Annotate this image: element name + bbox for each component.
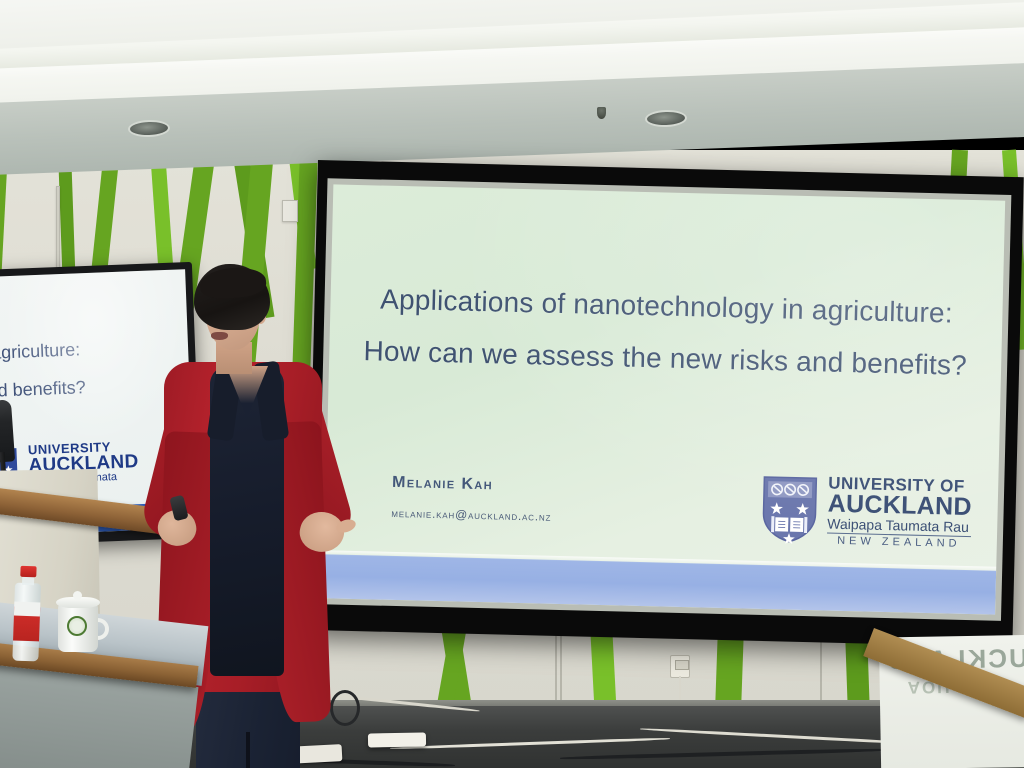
uoa-wordmark: UNIVERSITY OF AUCKLAND Waipapa Taumata R… bbox=[827, 475, 973, 550]
presenter-trousers-seam bbox=[246, 732, 250, 768]
water-bottle bbox=[12, 565, 41, 662]
university-logo: UNIVERSITY OF AUCKLAND Waipapa Taumata R… bbox=[761, 473, 973, 550]
slide-email: melanie.kah@auckland.ac.nz bbox=[391, 506, 551, 524]
cup-lid-knob bbox=[73, 591, 82, 600]
presentation-photo-scene: Applications of nanotechnology in agricu… bbox=[0, 0, 1024, 768]
screen-glare bbox=[323, 184, 1005, 614]
uoa-logo-line-3: Waipapa Taumata Rau bbox=[827, 517, 971, 535]
slide-surface: Applications of nanotechnology in agricu… bbox=[323, 184, 1005, 614]
tea-cup bbox=[55, 588, 101, 652]
uoa-shield-icon bbox=[761, 475, 819, 544]
cup-logo-icon bbox=[67, 616, 87, 636]
sprinkler-icon bbox=[597, 107, 606, 119]
wall-mounted-fixture bbox=[282, 200, 298, 222]
slide-author: Melanie Kah bbox=[392, 474, 493, 494]
bottle-label-upper bbox=[14, 602, 40, 617]
presenter-mouth bbox=[211, 332, 228, 340]
projection-screen[interactable]: Applications of nanotechnology in agricu… bbox=[307, 160, 1024, 647]
slide-title: Applications of nanotechnology in agricu… bbox=[329, 272, 1003, 392]
bottle-cap bbox=[20, 566, 36, 578]
uoa-logo-line-4: NEW ZEALAND bbox=[827, 536, 971, 551]
wall-outlet bbox=[670, 655, 690, 678]
